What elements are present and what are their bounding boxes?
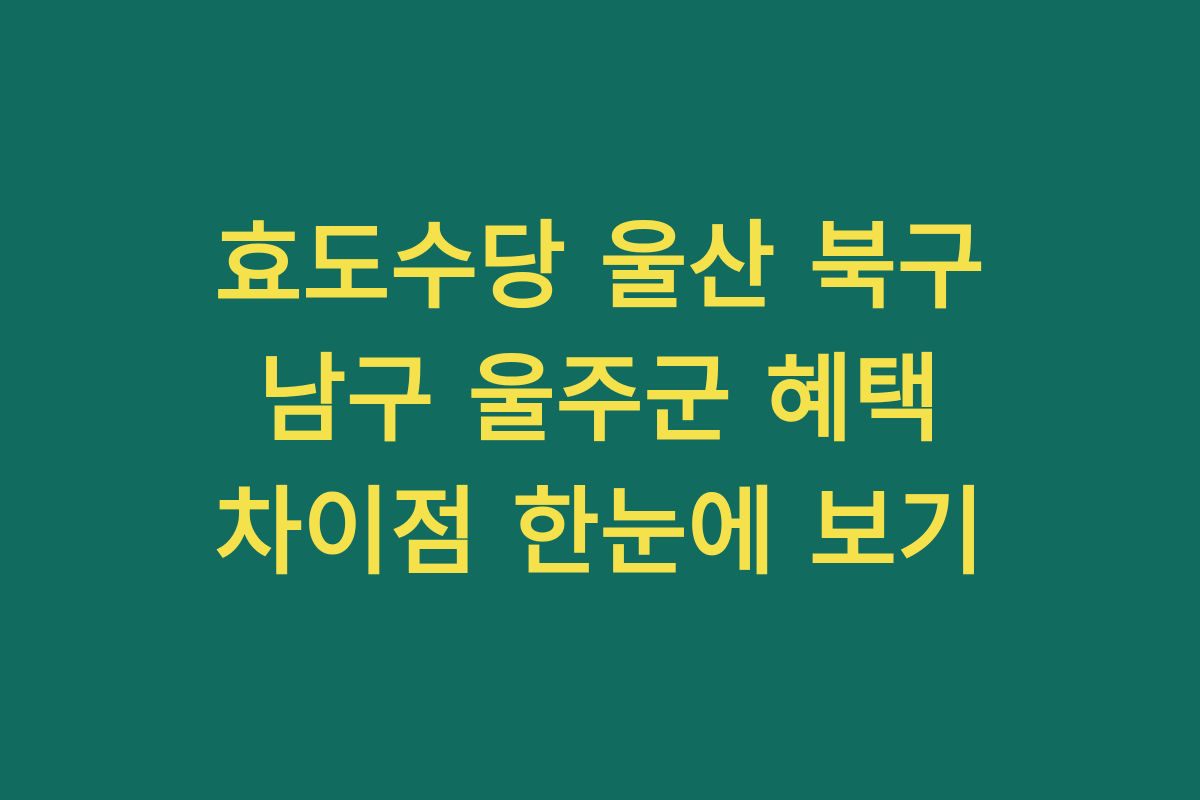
thumbnail-banner: 효도수당 울산 북구 남구 울주군 혜택 차이점 한눈에 보기 [0,0,1200,800]
headline-text: 효도수당 울산 북구 남구 울주군 혜택 차이점 한눈에 보기 [118,201,1083,600]
